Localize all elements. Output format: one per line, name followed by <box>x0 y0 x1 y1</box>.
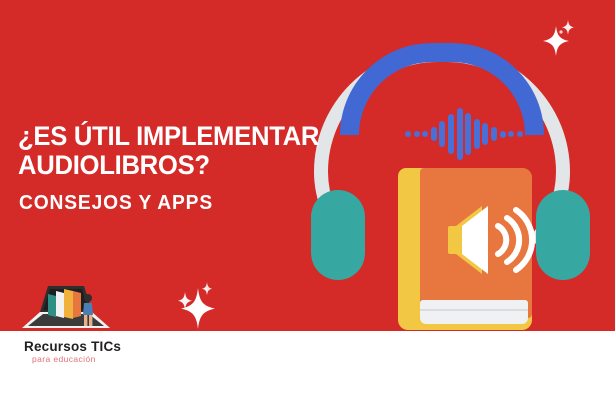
poster-canvas: ¿ES ÚTIL IMPLEMENTAR AUDIOLIBROS? CONSEJ… <box>0 0 615 410</box>
page-subtitle: CONSEJOS Y APPS <box>19 192 336 214</box>
waveform-bar-11 <box>500 131 506 138</box>
waveform-bar-2 <box>422 131 428 137</box>
waveform-bar-7 <box>465 113 471 155</box>
brand-logo: Recursos TICs para educación <box>14 282 134 382</box>
waveform-bar-12 <box>508 131 514 137</box>
waveform-bar-0 <box>405 131 411 137</box>
waveform-bar-5 <box>448 114 454 154</box>
logo-tagline: para educación <box>32 354 96 364</box>
laptop-books-icon <box>18 282 114 338</box>
speaker-volume-icon <box>448 204 536 276</box>
waveform-bar-4 <box>439 121 445 147</box>
page-title: ¿ES ÚTIL IMPLEMENTAR AUDIOLIBROS? <box>18 122 332 180</box>
waveform-bar-1 <box>414 131 420 137</box>
waveform-bar-10 <box>491 127 497 141</box>
waveform-bar-13 <box>517 131 523 137</box>
book-pages <box>420 300 528 324</box>
audiobook-illustration <box>398 168 532 330</box>
waveform-bar-9 <box>482 123 488 145</box>
waveform-bar-6 <box>457 108 463 160</box>
sparkle-mid-left <box>172 278 224 341</box>
headphone-earcup-right <box>536 190 590 280</box>
book-cover <box>420 168 532 318</box>
waveform-bar-8 <box>474 119 480 149</box>
audio-waveform <box>405 104 523 164</box>
sparkle-top-right <box>538 18 578 69</box>
logo-name: Recursos TICs <box>24 339 121 354</box>
waveform-bar-3 <box>431 127 437 141</box>
